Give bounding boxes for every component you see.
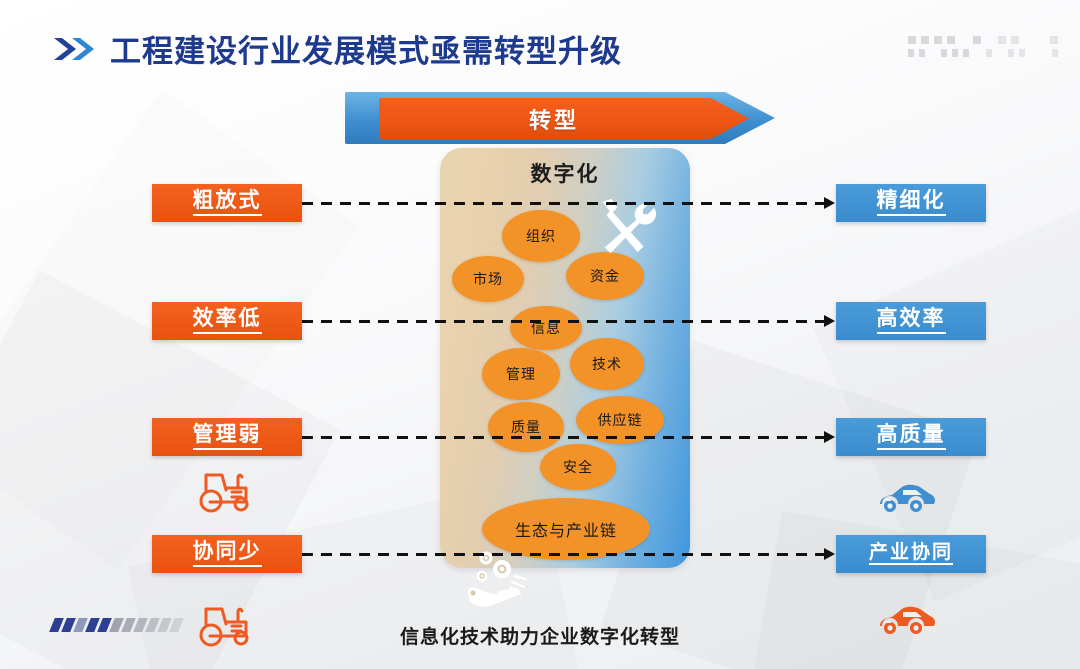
connector-arrowhead-1 (824, 315, 835, 327)
car-icon (876, 482, 938, 516)
connector-arrowhead-2 (824, 431, 835, 443)
bubble-6[interactable]: 质量 (488, 402, 564, 452)
right-label-text: 产业协同 (869, 543, 953, 566)
bubble-label: 技术 (592, 354, 622, 374)
left-label-0[interactable]: 粗放式 (152, 184, 302, 222)
connector-line-2 (302, 436, 830, 439)
left-label-3[interactable]: 协同少 (152, 535, 302, 573)
right-label-text: 精细化 (877, 190, 946, 215)
left-label-text: 管理弱 (193, 424, 262, 449)
bubble-label: 质量 (511, 417, 541, 437)
bubble-label: 安全 (563, 457, 593, 477)
slide-caption: 信息化技术助力企业数字化转型 (0, 622, 1080, 649)
left-label-text: 协同少 (193, 541, 262, 566)
bubble-5[interactable]: 技术 (570, 338, 644, 390)
bubble-label: 生态与产业链 (515, 517, 617, 541)
slide-root: 工程建设行业发展模式亟需转型升级 转型 数字化 组织市场资金信息管理技术质量供应… (0, 0, 1080, 669)
bubble-3[interactable]: 信息 (510, 306, 582, 350)
hand-gears-icon (462, 548, 540, 610)
bubble-label: 资金 (590, 266, 620, 286)
right-label-3[interactable]: 产业协同 (836, 535, 986, 573)
page-title: 工程建设行业发展模式亟需转型升级 (110, 26, 622, 71)
connector-arrowhead-3 (824, 548, 835, 560)
bubble-label: 供应链 (598, 410, 643, 430)
tractor-icon (196, 466, 254, 514)
bubble-label: 组织 (526, 226, 556, 246)
right-label-2[interactable]: 高质量 (836, 418, 986, 456)
dot-grid-icon (908, 36, 1058, 62)
connector-line-1 (302, 320, 830, 323)
left-label-text: 效率低 (193, 308, 262, 333)
connector-arrowhead-0 (824, 197, 835, 209)
transformation-banner: 转型 (345, 92, 775, 144)
bubble-label: 市场 (473, 269, 503, 289)
left-label-1[interactable]: 效率低 (152, 302, 302, 340)
left-label-2[interactable]: 管理弱 (152, 418, 302, 456)
page-title-row: 工程建设行业发展模式亟需转型升级 (52, 26, 622, 71)
right-label-1[interactable]: 高效率 (836, 302, 986, 340)
right-label-text: 高质量 (877, 424, 946, 449)
bubble-label: 管理 (506, 364, 536, 384)
left-label-text: 粗放式 (193, 190, 262, 215)
wrench-hammer-icon (595, 196, 657, 258)
connector-line-3 (302, 553, 830, 556)
double-chevron-right-icon (52, 35, 96, 63)
right-label-0[interactable]: 精细化 (836, 184, 986, 222)
bubble-0[interactable]: 组织 (502, 210, 580, 262)
bubble-8[interactable]: 安全 (540, 444, 616, 490)
bubble-4[interactable]: 管理 (482, 348, 560, 400)
card-title: 数字化 (440, 158, 690, 188)
right-label-text: 高效率 (877, 308, 946, 333)
bubble-2[interactable]: 资金 (566, 252, 644, 300)
banner-label: 转型 (379, 98, 729, 139)
connector-line-0 (302, 202, 830, 205)
bubble-1[interactable]: 市场 (452, 256, 524, 302)
